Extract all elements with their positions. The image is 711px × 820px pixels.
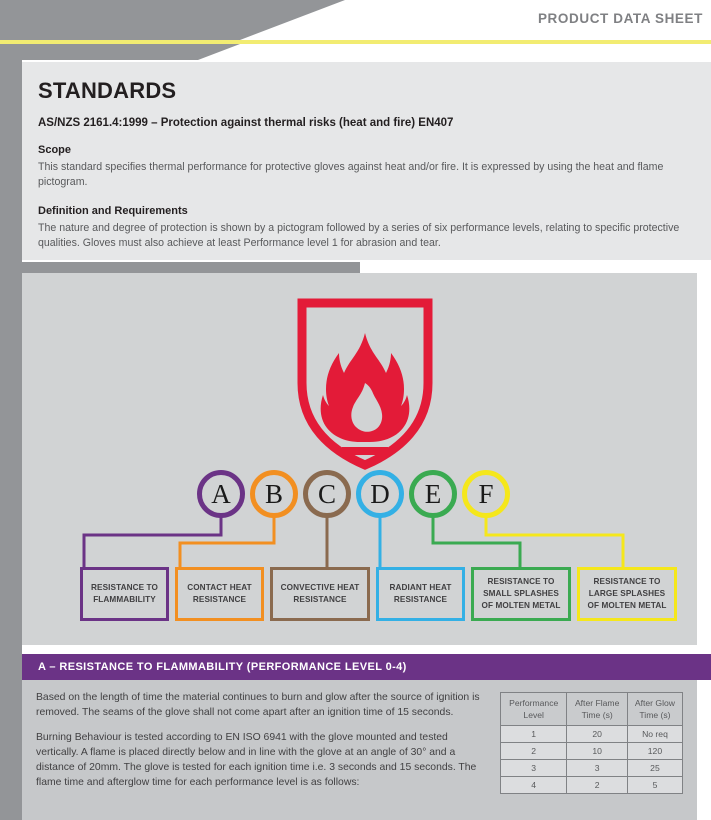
label-box-e-text: RESISTANCE TO SMALL SPLASHES OF MOLTEN M…: [482, 576, 561, 612]
circle-letter-d: D: [356, 470, 404, 518]
table-col-after-flame-time: After Flame Time (s): [567, 693, 628, 726]
section-a-paragraph-2: Burning Behaviour is tested according to…: [36, 730, 491, 790]
circle-letter-f: F: [462, 470, 510, 518]
table-row: 1 20 No req: [501, 726, 682, 743]
standards-heading: STANDARDS: [38, 78, 689, 104]
scope-text: This standard specifies thermal performa…: [38, 160, 689, 191]
label-box-d-text: RADIANT HEAT RESISTANCE: [390, 582, 452, 606]
cell-glow-2: 120: [628, 743, 682, 760]
table-row: 3 3 25: [501, 760, 682, 777]
cell-level-2: 2: [501, 743, 567, 760]
definition-heading: Definition and Requirements: [38, 205, 689, 217]
section-a-paragraph-1: Based on the length of time the material…: [36, 690, 491, 720]
circle-letter-c-text: C: [318, 479, 336, 510]
table-row: 2 10 120: [501, 743, 682, 760]
cell-glow-4: 5: [628, 777, 682, 793]
circle-letter-b-text: B: [265, 479, 283, 510]
cell-glow-1: No req: [628, 726, 682, 743]
section-a-title: A – RESISTANCE TO FLAMMABILITY (PERFORMA…: [22, 661, 407, 673]
table-header-row: Performance Level After Flame Time (s) A…: [501, 693, 682, 726]
header-yellow-rule: [0, 40, 711, 44]
circle-letter-d-text: D: [370, 479, 390, 510]
performance-level-table: Performance Level After Flame Time (s) A…: [500, 692, 683, 794]
cell-flame-2: 10: [567, 743, 628, 760]
left-margin-strip: [0, 44, 22, 820]
circle-letter-a: A: [197, 470, 245, 518]
section-a-content-panel: Based on the length of time the material…: [22, 680, 697, 820]
label-box-b-text: CONTACT HEAT RESISTANCE: [187, 582, 252, 606]
circle-letter-a-text: A: [211, 479, 231, 510]
cell-level-4: 4: [501, 777, 567, 793]
circle-letter-b: B: [250, 470, 298, 518]
circle-letter-e: E: [409, 470, 457, 518]
section-a-header-bar: A – RESISTANCE TO FLAMMABILITY (PERFORMA…: [22, 654, 711, 680]
cell-flame-3: 3: [567, 760, 628, 777]
label-box-c: CONVECTIVE HEAT RESISTANCE: [270, 567, 370, 621]
label-box-f-text: RESISTANCE TO LARGE SPLASHES OF MOLTEN M…: [588, 576, 667, 612]
definition-text: The nature and degree of protection is s…: [38, 221, 689, 252]
label-box-b: CONTACT HEAT RESISTANCE: [175, 567, 264, 621]
standards-reference: AS/NZS 2161.4:1999 – Protection against …: [38, 117, 689, 129]
header-gray-shape: [0, 0, 360, 40]
table-col-after-glow-time: After Glow Time (s): [628, 693, 682, 726]
cell-flame-4: 2: [567, 777, 628, 793]
product-data-sheet-page: PRODUCT DATA SHEET STANDARDS AS/NZS 2161…: [0, 0, 711, 820]
label-box-c-text: CONVECTIVE HEAT RESISTANCE: [281, 582, 360, 606]
table-col-performance-level: Performance Level: [501, 693, 567, 726]
circle-letter-e-text: E: [425, 479, 442, 510]
scope-heading: Scope: [38, 144, 689, 156]
flame-shield-icon: [290, 295, 440, 475]
section-a-body: Based on the length of time the material…: [36, 690, 491, 790]
label-box-a-text: RESISTANCE TO FLAMMABILITY: [91, 582, 158, 606]
label-box-a: RESISTANCE TO FLAMMABILITY: [80, 567, 169, 621]
connector-e: [433, 513, 520, 575]
cell-level-3: 3: [501, 760, 567, 777]
panel-divider-bar: [22, 262, 360, 273]
table-row: 4 2 5: [501, 777, 682, 793]
connector-lines: [22, 513, 697, 575]
page-header: PRODUCT DATA SHEET: [0, 0, 711, 40]
standards-panel: STANDARDS AS/NZS 2161.4:1999 – Protectio…: [22, 62, 711, 260]
pictogram-label-boxes: RESISTANCE TO FLAMMABILITY CONTACT HEAT …: [22, 567, 697, 625]
page-title: PRODUCT DATA SHEET: [538, 11, 703, 26]
connector-b: [180, 513, 274, 575]
circle-letter-f-text: F: [478, 479, 493, 510]
cell-glow-3: 25: [628, 760, 682, 777]
header-gray-shape-lower: [0, 44, 260, 60]
label-box-e: RESISTANCE TO SMALL SPLASHES OF MOLTEN M…: [471, 567, 571, 621]
label-box-d: RADIANT HEAT RESISTANCE: [376, 567, 465, 621]
cell-flame-1: 20: [567, 726, 628, 743]
label-box-f: RESISTANCE TO LARGE SPLASHES OF MOLTEN M…: [577, 567, 677, 621]
pictogram-panel: A B C D E F: [22, 273, 697, 645]
cell-level-1: 1: [501, 726, 567, 743]
circle-letter-c: C: [303, 470, 351, 518]
